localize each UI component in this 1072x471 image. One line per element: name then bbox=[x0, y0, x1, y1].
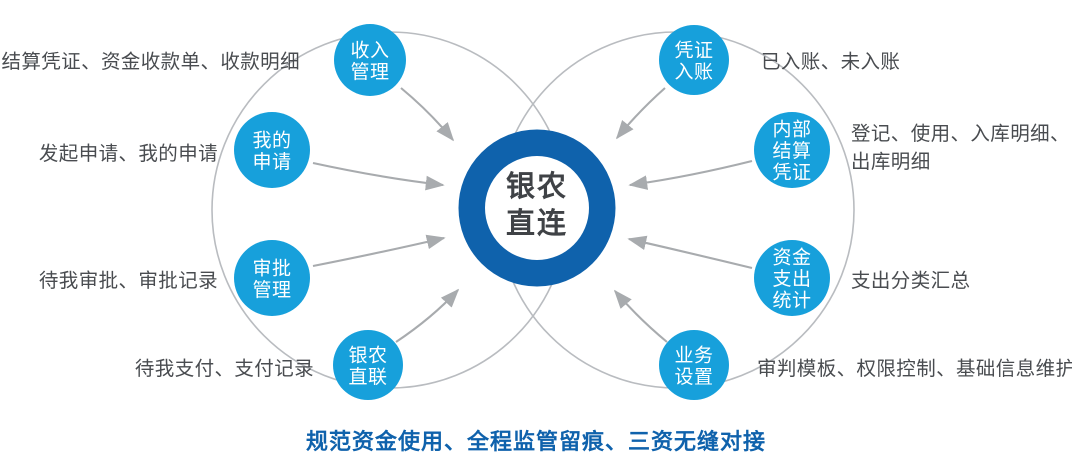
description-my-application: 发起申请、我的申请 bbox=[0, 140, 218, 168]
node-label-fund-expenditure-stats-line1: 资金 bbox=[772, 247, 811, 269]
description-voucher-entry: 已入账、未入账 bbox=[761, 48, 1061, 76]
node-label-bank-village-direct-line1: 银农 bbox=[348, 344, 387, 366]
arrow-voucher-entry bbox=[617, 88, 665, 138]
diagram-canvas: 银农 直连 收入管理我的申请审批管理银农直联凭证入账内部结算凭证资金支出统计业务… bbox=[0, 0, 1072, 471]
node-label-internal-settlement-voucher-line1: 内部 bbox=[772, 119, 811, 141]
node-label-income-management-line1: 收入 bbox=[350, 39, 389, 61]
node-internal-settlement-voucher[interactable]: 内部结算凭证 bbox=[754, 112, 830, 188]
description-bank-village-direct: 待我支付、支付记录 bbox=[96, 355, 314, 383]
arrow-approval-management bbox=[313, 238, 444, 266]
node-voucher-entry[interactable]: 凭证入账 bbox=[659, 25, 729, 95]
node-my-application[interactable]: 我的申请 bbox=[234, 112, 310, 188]
node-label-internal-settlement-voucher-line3: 凭证 bbox=[772, 162, 811, 184]
description-business-settings: 审判模板、权限控制、基础信息维护 bbox=[757, 355, 1072, 383]
description-internal-settlement-voucher: 登记、使用、入库明细、 出库明细 bbox=[851, 120, 1072, 177]
node-income-management[interactable]: 收入管理 bbox=[334, 24, 406, 96]
node-label-business-settings-line2: 设置 bbox=[674, 366, 713, 388]
arrow-internal-settlement bbox=[630, 161, 752, 185]
description-fund-expenditure-stats: 支出分类汇总 bbox=[851, 267, 1072, 295]
node-bank-village-direct[interactable]: 银农直联 bbox=[333, 330, 403, 400]
description-income-management: 结算凭证、资金收款单、收款明细 bbox=[0, 48, 300, 76]
center-label-line1: 银农 bbox=[506, 169, 568, 203]
node-label-fund-expenditure-stats-line2: 支出 bbox=[772, 268, 811, 290]
arrow-bank-village-direct bbox=[396, 290, 458, 342]
node-label-income-management-line2: 管理 bbox=[350, 61, 389, 83]
arrow-business-settings bbox=[615, 291, 667, 342]
arrow-my-application bbox=[313, 163, 443, 185]
node-label-business-settings-line1: 业务 bbox=[674, 344, 713, 366]
node-label-my-application-line2: 申请 bbox=[252, 151, 291, 173]
node-label-bank-village-direct-line2: 直联 bbox=[348, 366, 387, 388]
node-fund-expenditure-stats[interactable]: 资金支出统计 bbox=[754, 240, 830, 316]
node-label-voucher-entry-line2: 入账 bbox=[674, 61, 713, 83]
center-label-line2: 直连 bbox=[506, 206, 568, 240]
node-label-my-application-line1: 我的 bbox=[252, 129, 291, 151]
node-label-approval-management-line2: 管理 bbox=[252, 279, 291, 301]
node-business-settings[interactable]: 业务设置 bbox=[659, 330, 729, 400]
node-approval-management[interactable]: 审批管理 bbox=[234, 240, 310, 316]
footer-caption: 规范资金使用、全程监管留痕、三资无缝对接 bbox=[0, 424, 1072, 456]
arrow-income-management bbox=[401, 88, 453, 140]
node-label-internal-settlement-voucher-line2: 结算 bbox=[772, 140, 811, 162]
node-label-fund-expenditure-stats-line3: 统计 bbox=[772, 290, 811, 312]
arrow-fund-expenditure-stats bbox=[629, 239, 752, 268]
node-label-voucher-entry-line1: 凭证 bbox=[674, 39, 713, 61]
description-approval-management: 待我审批、审批记录 bbox=[0, 267, 218, 295]
node-label-approval-management-line1: 审批 bbox=[252, 257, 291, 279]
